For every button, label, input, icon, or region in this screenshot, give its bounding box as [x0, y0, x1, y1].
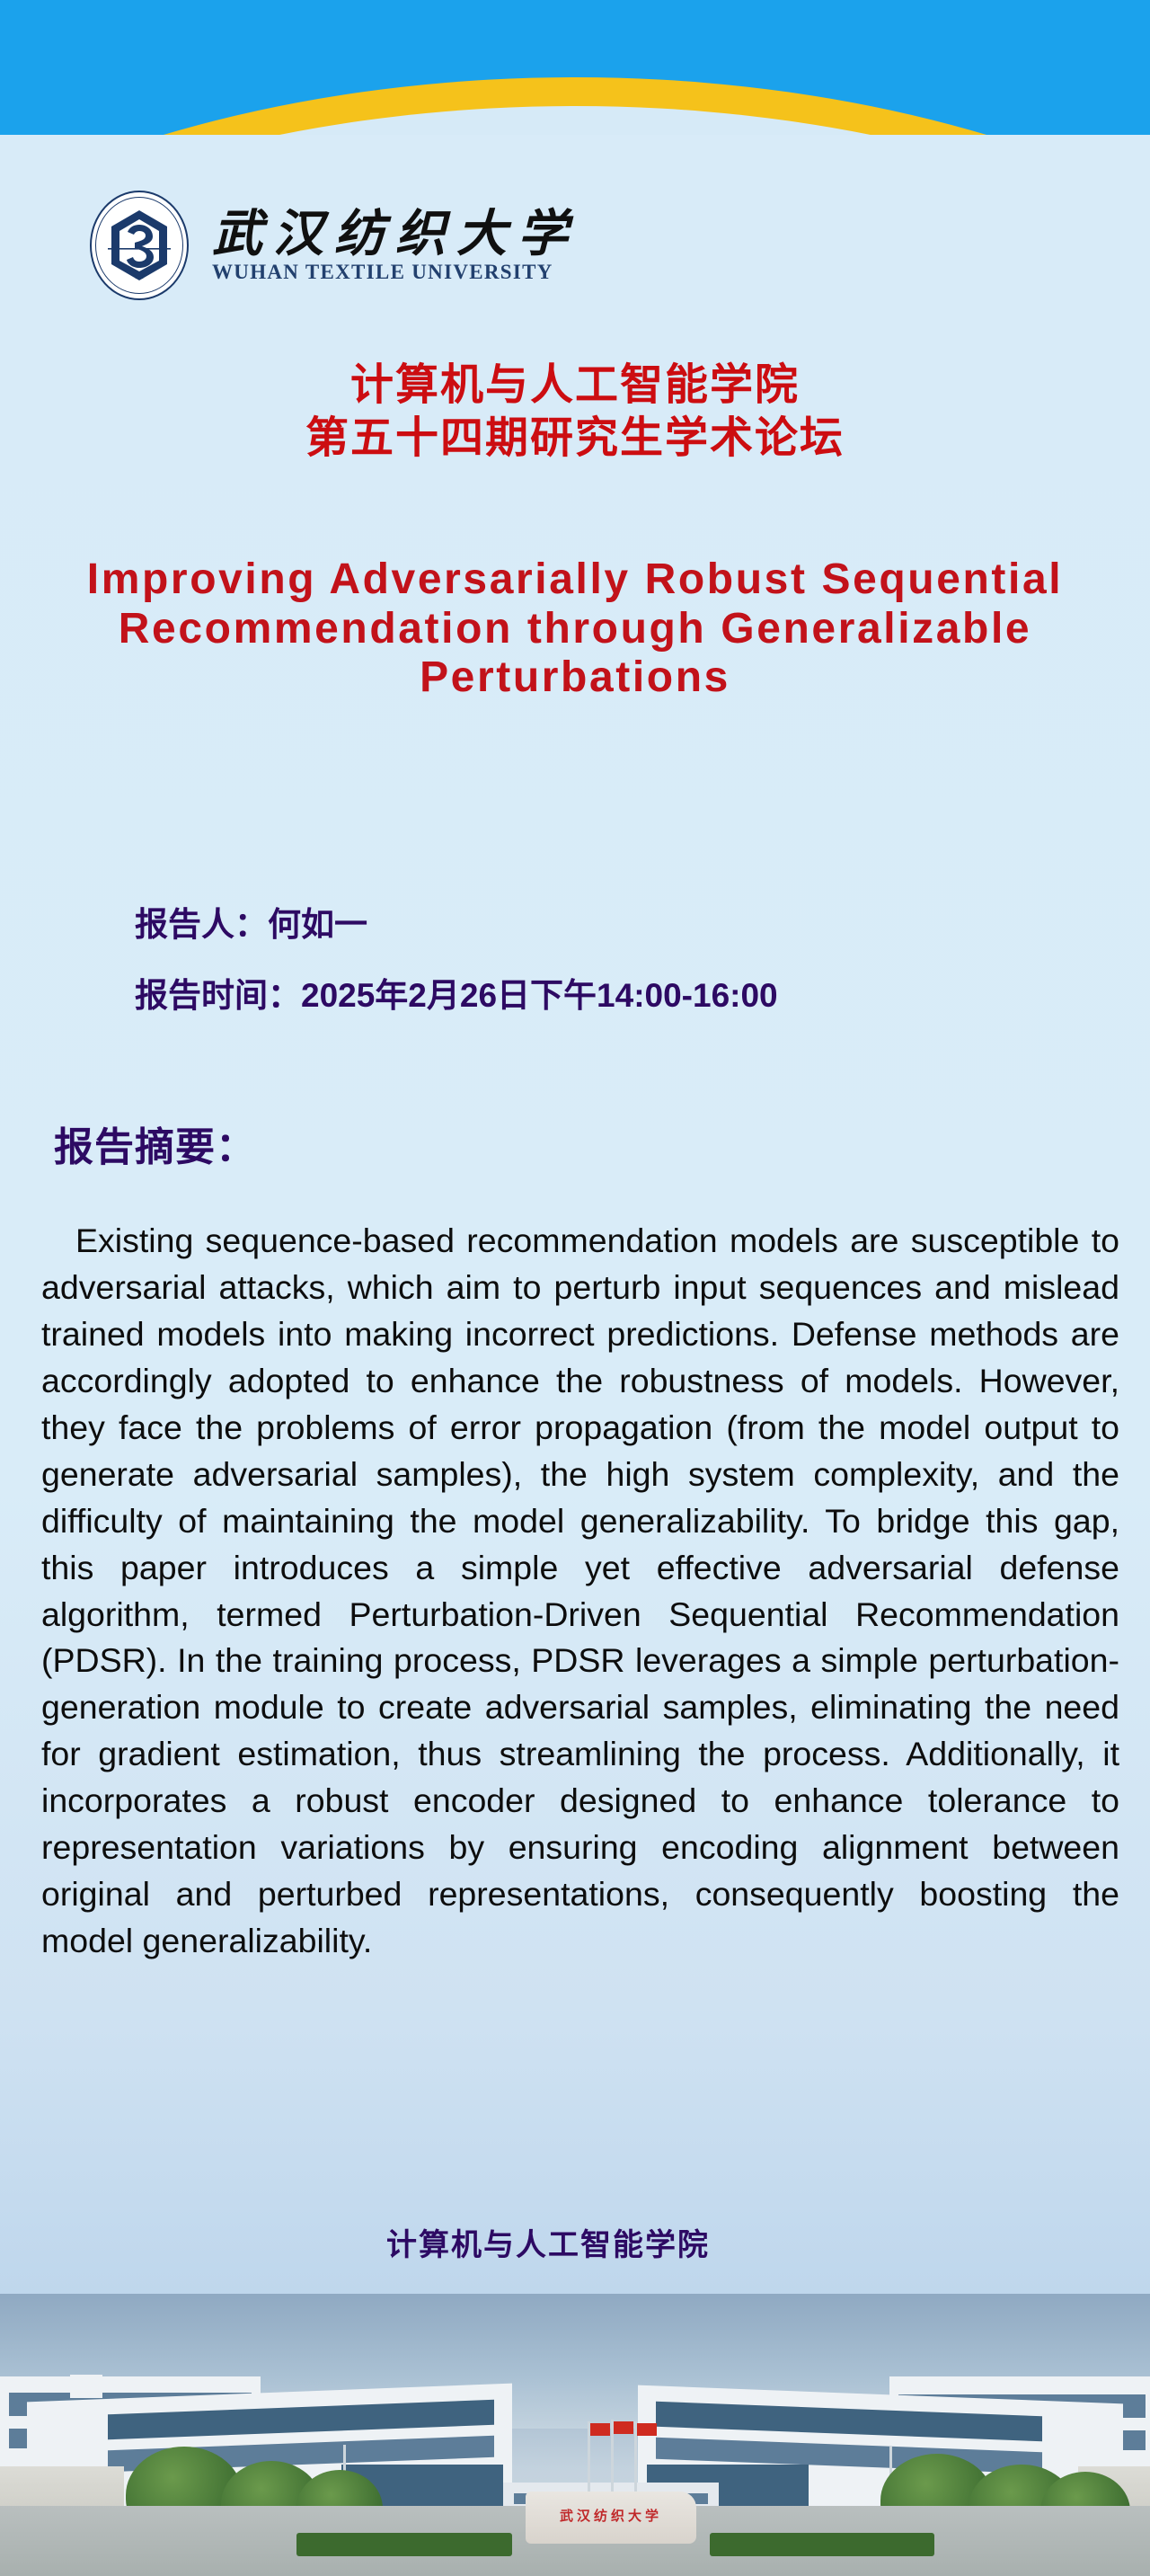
university-logo-row: 武汉纺织大学 WUHAN TEXTILE UNIVERSITY — [90, 191, 579, 300]
building-left-rooftop — [70, 2375, 102, 2398]
abstract-heading: 报告摘要： — [54, 1115, 256, 1172]
flag-3 — [637, 2423, 657, 2436]
forum-heading-line-2: 第五十四期研究生学术论坛 — [0, 413, 1150, 466]
flag-2 — [614, 2421, 633, 2434]
talk-meta: 报告人：何如一 报告时间：2025年2月26日下午14:00-16:00 — [135, 908, 1105, 1050]
poster-root: 武汉纺织大学 WUHAN TEXTILE UNIVERSITY 计算机与人工智能… — [0, 0, 1150, 2576]
hedge-left — [296, 2533, 512, 2556]
footer-organizer: 计算机与人工智能学院 — [0, 2220, 1150, 2264]
university-name-en: WUHAN TEXTILE UNIVERSITY — [212, 262, 579, 282]
university-wordmark: 武汉纺织大学 WUHAN TEXTILE UNIVERSITY — [212, 209, 579, 282]
time-line: 报告时间：2025年2月26日下午14:00-16:00 — [135, 979, 1105, 1012]
campus-name-stone: 武汉纺织大学 — [526, 2492, 696, 2544]
talk-title-en: Improving Adversarially Robust Sequentia… — [54, 555, 1096, 703]
hedge-right — [710, 2533, 934, 2556]
abstract-text: Existing sequence-based recommendation m… — [41, 1221, 1119, 1959]
forum-heading: 计算机与人工智能学院 第五十四期研究生学术论坛 — [0, 360, 1150, 465]
campus-name-stone-text: 武汉纺织大学 — [533, 2506, 689, 2525]
forum-heading-line-1: 计算机与人工智能学院 — [0, 360, 1150, 413]
crest-shield-icon — [108, 209, 171, 282]
university-name-cn: 武汉纺织大学 — [212, 209, 579, 260]
campus-photo: 武汉纺织大学 — [0, 2294, 1150, 2576]
abstract-body: Existing sequence-based recommendation m… — [41, 1218, 1119, 1965]
speaker-line: 报告人：何如一 — [135, 908, 1105, 941]
flag-1 — [590, 2423, 610, 2436]
university-crest-icon — [90, 191, 189, 300]
